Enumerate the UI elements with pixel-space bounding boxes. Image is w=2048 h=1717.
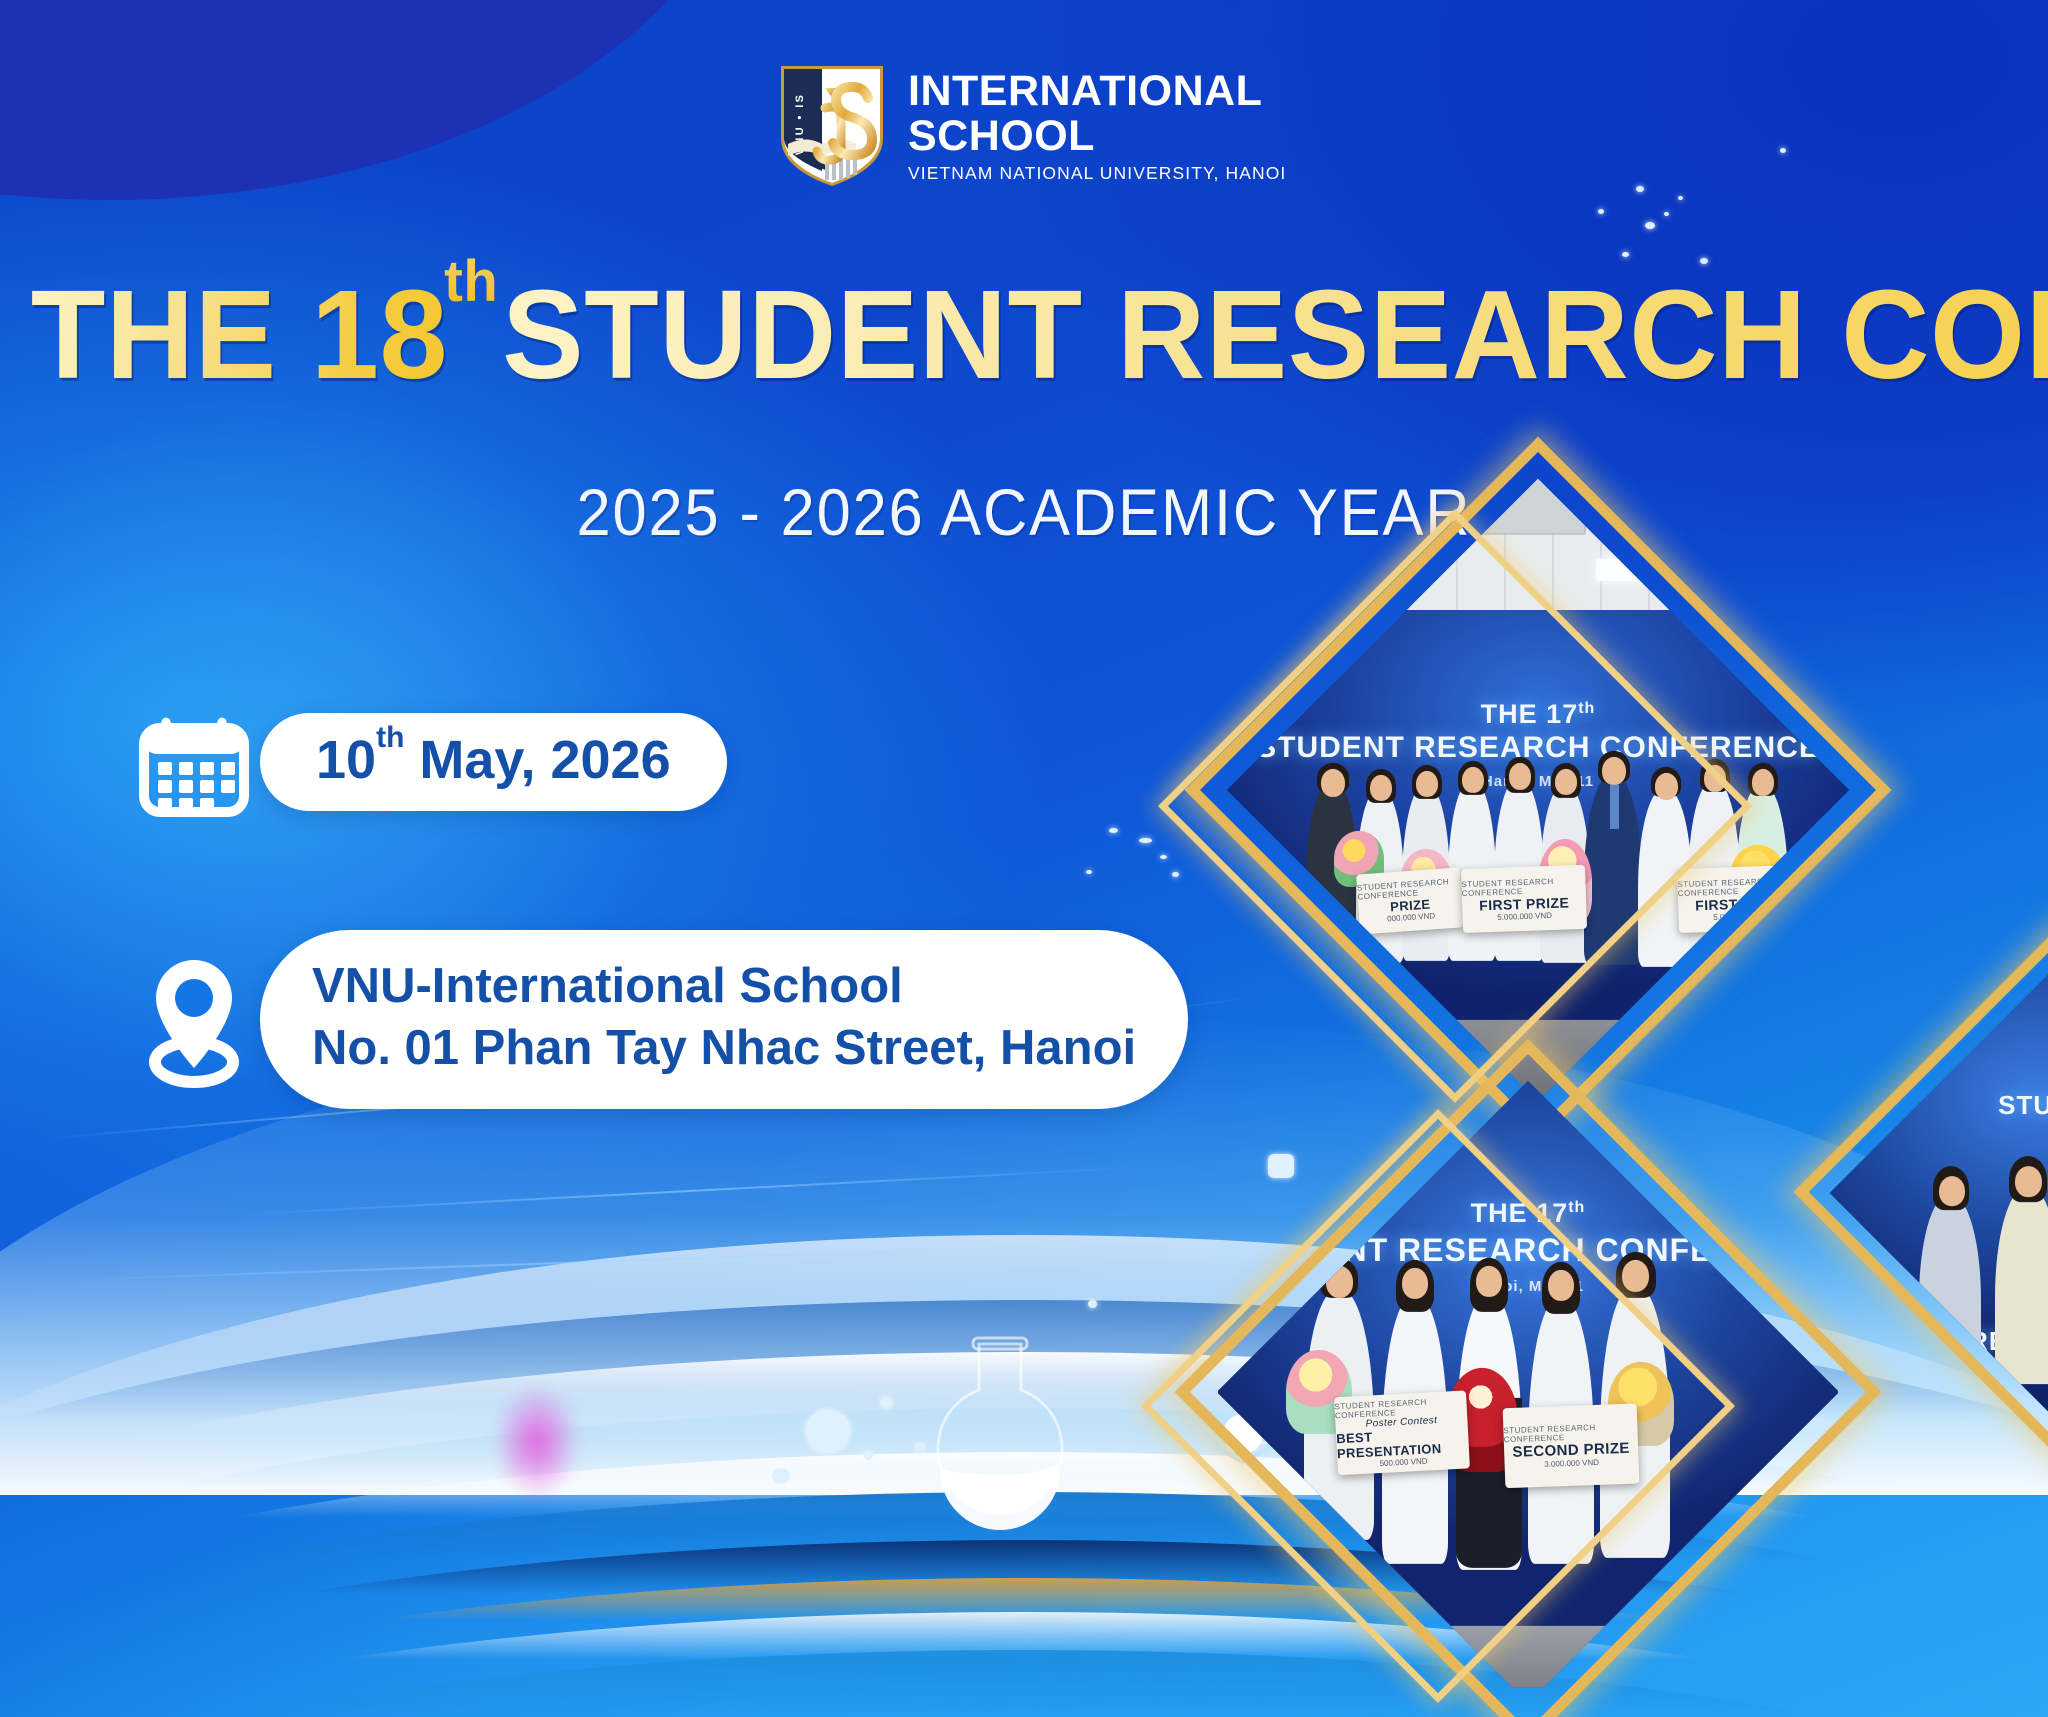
title-ordinal: th [444,249,498,314]
person-head [1752,769,1774,796]
title-prefix: THE 18 [31,264,448,405]
event-location-pill: VNU-International School No. 01 Phan Tay… [260,930,1188,1109]
conference-poster: VNU • IS INTERNATIONAL SCHOOL VIETNAM NA… [0,0,2048,1717]
logo-line-school: SCHOOL [908,115,1286,158]
sparkle [1086,870,1092,874]
institution-logo: VNU • IS INTERNATIONAL SCHOOL VIETNAM NA… [778,62,1286,190]
title-suffix: STUDENT RESEARCH CONFERENCE [502,264,2048,405]
person-head [1939,1176,1965,1206]
location-line-2: No. 01 Phan Tay Nhac Street, Hanoi [312,1018,1136,1080]
person-head [1622,1260,1649,1292]
sparkle [1664,212,1669,216]
sparkle-bokeh [864,1452,873,1460]
sparkle [1109,828,1118,833]
backdrop-line-2: STUDENT [1830,1090,2048,1121]
map-pin-icon [128,950,260,1090]
person [1995,1188,2048,1384]
calendar-icon [128,700,260,824]
logo-line-international: INTERNATIONAL [908,70,1286,113]
sparkle [1622,252,1629,257]
magenta-flare [492,1382,582,1502]
sparkle [1598,209,1604,214]
sparkle [1139,838,1152,843]
event-date-ordinal: th [376,721,404,754]
logo-line-university: VIETNAM NATIONAL UNIVERSITY, HANOI [908,165,1286,183]
page-title: THE 18thSTUDENT RESEARCH CONFERENCE [31,272,2018,398]
sparkle-bokeh [1088,1300,1097,1308]
sparkle [1636,186,1644,192]
event-date-pill: 10th May, 2026 [260,713,727,811]
sparkle-bokeh [880,1397,892,1408]
chemistry-flask-icon [905,1330,1095,1550]
location-line-1: VNU-International School [312,956,1136,1018]
vnu-is-shield-icon: VNU • IS [778,62,886,190]
person-head [2015,1166,2042,1197]
event-date-block: 10th May, 2026 [128,700,727,824]
event-date-day: 10 [316,730,376,790]
sparkle [1160,855,1167,859]
sparkle [1780,148,1786,153]
sparkle [1268,1154,1294,1178]
sparkle [1172,872,1179,877]
page-subtitle: 2025 - 2026 ACADEMIC YEAR [72,474,1977,550]
sparkle [1645,222,1655,229]
sparkle-bokeh [806,1410,850,1452]
sparkle [1678,196,1683,200]
event-date-rest: May, 2026 [419,730,670,790]
sparkle-bokeh [772,1468,790,1484]
event-location-block: VNU-International School No. 01 Phan Tay… [128,930,1188,1109]
